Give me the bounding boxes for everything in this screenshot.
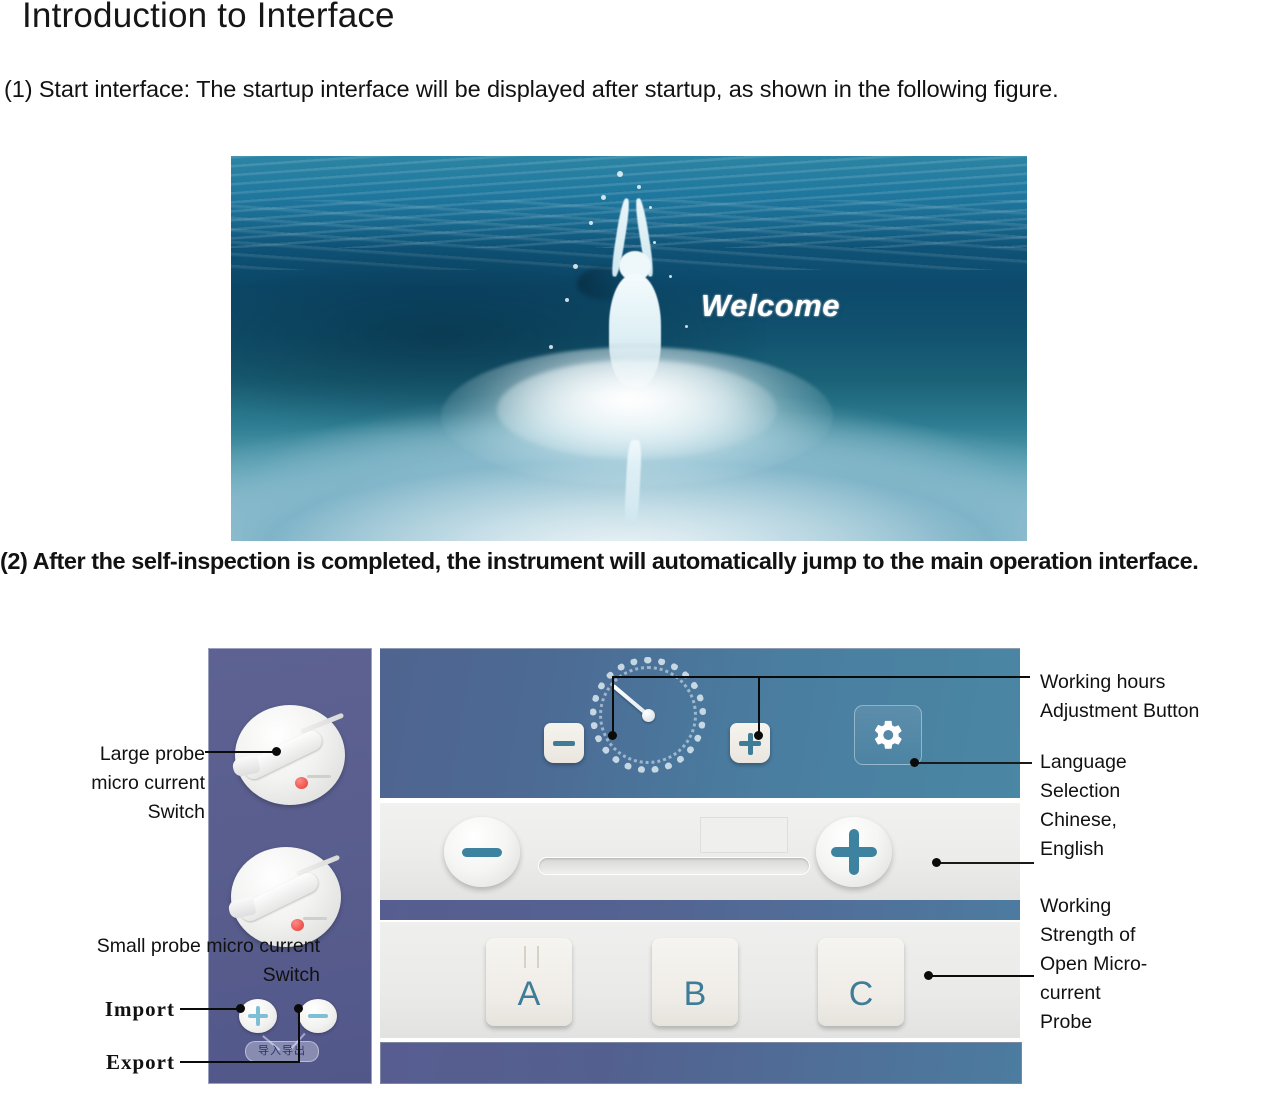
leader-export-v: [298, 1008, 300, 1062]
divider-strip: [380, 900, 1020, 920]
callout-line: Open Micro-: [1040, 950, 1278, 979]
leader-language: [916, 762, 1032, 764]
working-hours-decrease-button[interactable]: [544, 723, 584, 763]
probe-led-indicator: [291, 919, 304, 931]
preset-buttons-panel: A B C: [380, 922, 1020, 1038]
preset-button-label: A: [518, 975, 541, 1014]
callout-large-probe: Large probe micro current Switch: [20, 740, 205, 827]
language-selection-button[interactable]: [854, 705, 922, 765]
gauge-hub: [642, 709, 655, 722]
device-bottom-strip: [380, 1042, 1022, 1084]
leader-dot: [932, 858, 941, 867]
gear-icon: [871, 718, 905, 752]
minus-icon: [553, 741, 575, 746]
leader-dot: [910, 758, 919, 767]
device-left-panel: 导入导出: [208, 648, 372, 1084]
plus-icon: [256, 1006, 260, 1026]
minus-icon: [308, 1014, 328, 1018]
leader-wh-right-v: [758, 676, 760, 736]
callout-line: Import: [40, 995, 175, 1024]
preset-button-label: B: [684, 975, 707, 1014]
minus-icon: [462, 848, 502, 857]
leader-slider: [940, 862, 1034, 864]
device-main-interface: 导入导出: [208, 648, 1020, 1082]
callout-line: Language: [1040, 748, 1278, 777]
callout-line: Working hours: [1040, 668, 1278, 697]
callout-import: Import: [40, 995, 175, 1024]
callout-line: Adjustment Button: [1040, 697, 1278, 726]
welcome-text: Welcome: [701, 288, 840, 324]
leader-wh-bridge: [612, 676, 760, 678]
paragraph-1: (1) Start interface: The startup interfa…: [4, 73, 1280, 106]
callout-line: Switch: [20, 798, 205, 827]
leader-abc: [930, 975, 1034, 977]
preset-button-a[interactable]: A: [486, 938, 572, 1026]
export-button[interactable]: [299, 999, 337, 1033]
callout-working-hours: Working hours Adjustment Button: [1040, 668, 1278, 726]
intensity-slider-track[interactable]: [538, 857, 810, 875]
callout-line: Selection: [1040, 777, 1278, 806]
paragraph-2: (2) After the self-inspection is complet…: [0, 545, 1280, 578]
import-export-caption: 导入导出: [245, 1041, 319, 1062]
callout-line: Switch: [10, 961, 320, 990]
callout-line: Large probe: [20, 740, 205, 769]
preset-button-c[interactable]: C: [818, 938, 904, 1026]
page-title: Introduction to Interface: [22, 0, 395, 36]
plus-icon: [849, 829, 859, 875]
page-root: Introduction to Interface (1) Start inte…: [0, 0, 1280, 1104]
intensity-decrease-button[interactable]: [444, 817, 520, 887]
plus-icon: [748, 733, 753, 755]
leader-dot: [608, 731, 617, 740]
preset-button-b[interactable]: B: [652, 938, 738, 1026]
working-hours-gauge: [590, 657, 706, 773]
callout-line: Small probe micro current: [10, 932, 320, 961]
underwater-dancer: [549, 195, 724, 526]
callout-line: micro current: [20, 769, 205, 798]
leader-dot: [924, 971, 933, 980]
callout-line: Probe: [1040, 1008, 1278, 1037]
callout-line: Working: [1040, 892, 1278, 921]
probe-led-indicator: [295, 777, 308, 789]
callout-line: English: [1040, 835, 1278, 864]
startup-splash-image: Welcome: [231, 156, 1027, 541]
leader-large-probe: [205, 751, 278, 753]
preset-button-label: C: [849, 975, 874, 1014]
intensity-increase-button[interactable]: [816, 817, 892, 887]
leader-dot: [236, 1004, 245, 1013]
callout-line: Strength of: [1040, 921, 1278, 950]
large-probe-switch[interactable]: [235, 705, 345, 805]
leader-export-h: [180, 1061, 300, 1063]
probe-marking: [303, 917, 327, 920]
intensity-slider-panel: [380, 801, 1020, 900]
leader-import: [180, 1008, 240, 1010]
key-slot-icon: [524, 946, 539, 968]
dancer-skirt-inner: [497, 360, 777, 459]
intensity-readout: [700, 817, 788, 853]
callout-export: Export: [40, 1048, 175, 1077]
leader-dot: [754, 731, 763, 740]
callout-working-strength: Working Strength of Open Micro- current …: [1040, 892, 1278, 1037]
callout-line: Chinese,: [1040, 806, 1278, 835]
working-hours-panel: [380, 648, 1020, 798]
leader-dot: [294, 1004, 303, 1013]
callout-language: Language Selection Chinese, English: [1040, 748, 1278, 864]
working-hours-increase-button[interactable]: [730, 723, 770, 763]
probe-marking: [307, 775, 331, 778]
device-right-column: A B C: [380, 648, 1020, 1082]
leader-wh-left-v: [612, 676, 614, 736]
leader-dot: [272, 747, 281, 756]
callout-small-probe: Small probe micro current Switch: [10, 932, 320, 990]
import-button[interactable]: [239, 999, 277, 1033]
callout-line: Export: [40, 1048, 175, 1077]
leader-wh-out: [758, 676, 1030, 678]
callout-line: current: [1040, 979, 1278, 1008]
